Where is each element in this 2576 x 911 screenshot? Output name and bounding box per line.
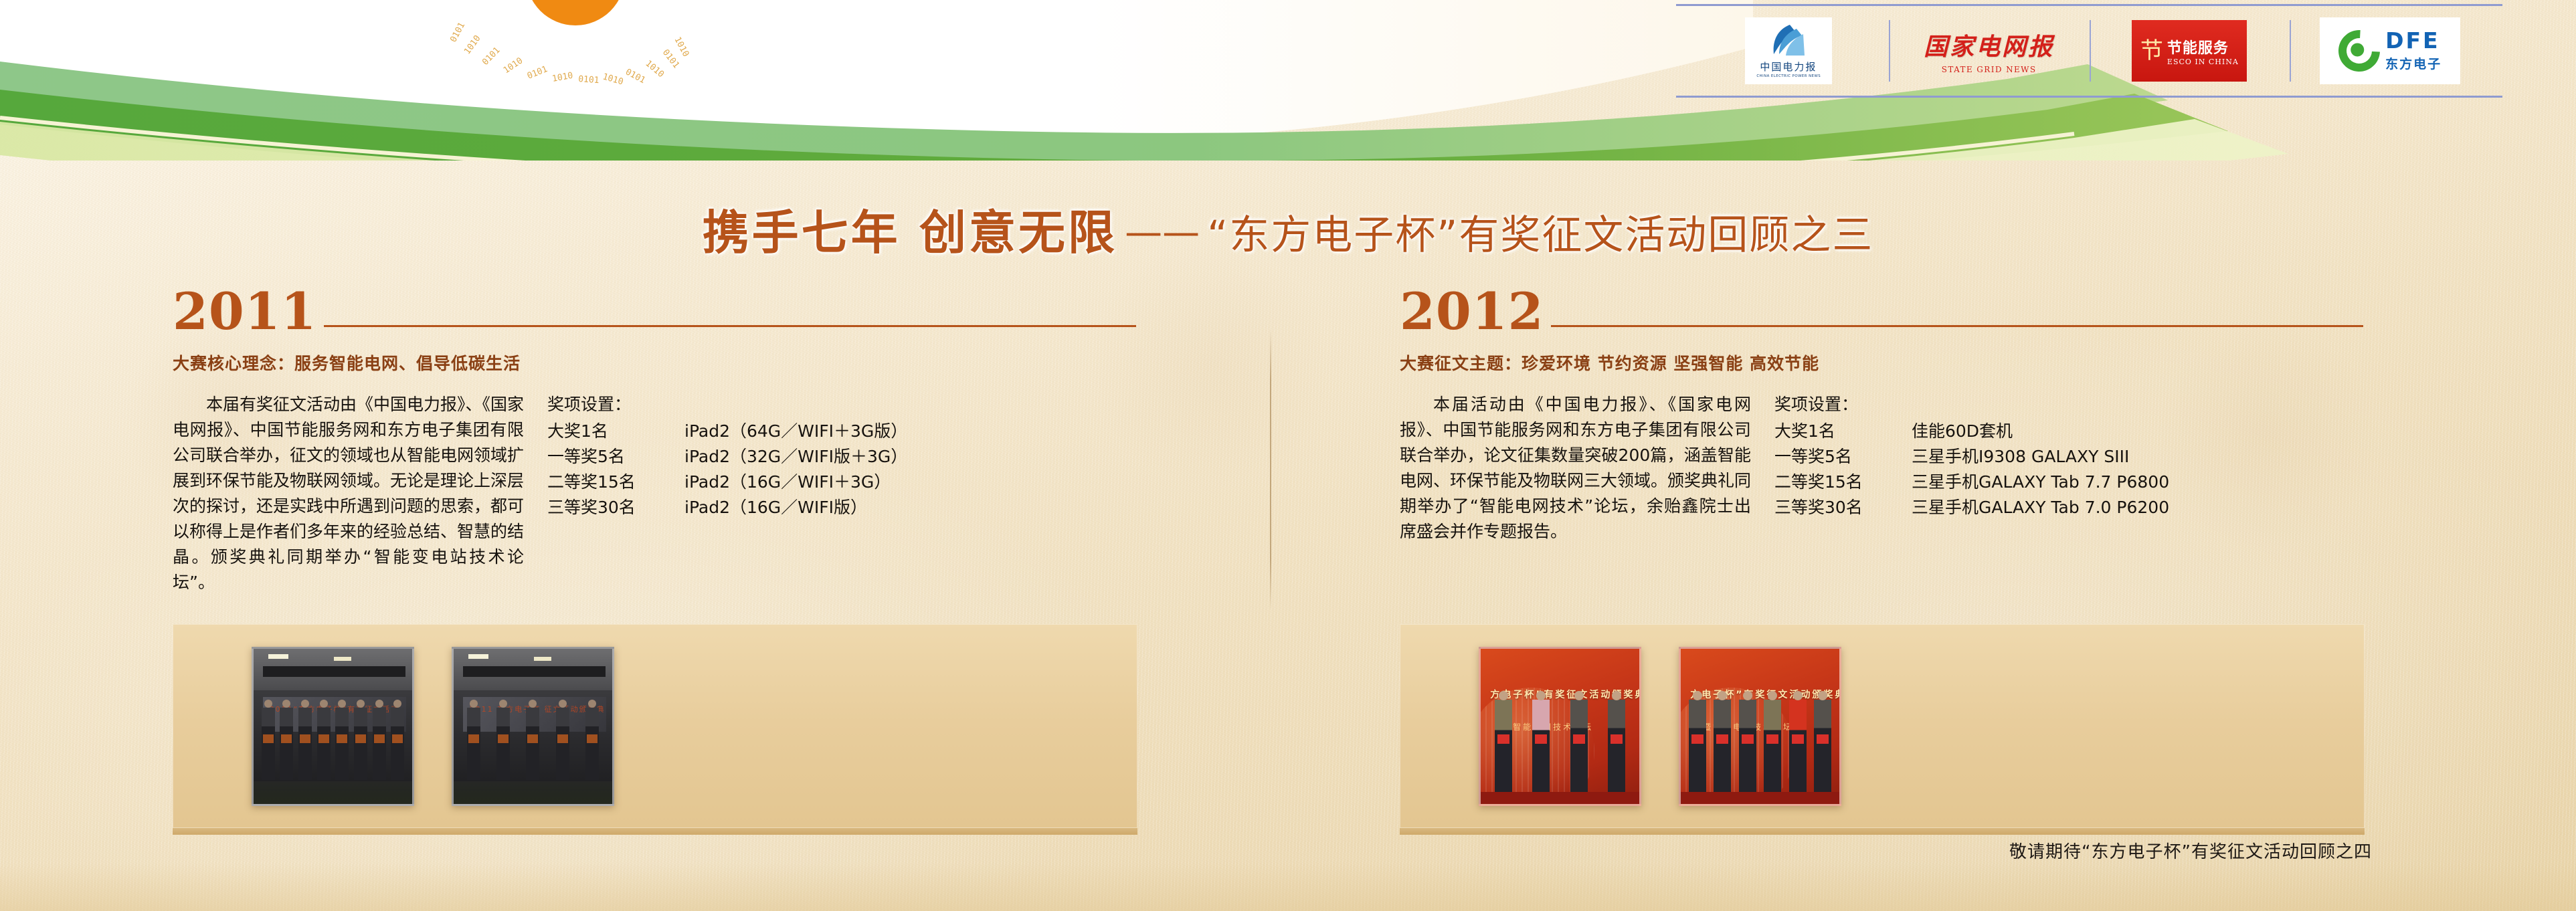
logo-en-label: CHINA ELECTRIC POWER NEWS (1756, 74, 1821, 78)
prize-row: 三等奖30名 iPad2（16G／WIFI版） (547, 495, 907, 520)
prize-rank: 二等奖15名 (1774, 470, 1912, 495)
logo-en-label: DFE (2385, 29, 2440, 52)
prize-rank: 三等奖30名 (547, 495, 684, 520)
photo-award-ceremony-group[interactable]: 2011“东方电子杯”有奖征文活动 (252, 647, 414, 806)
photo-panel-2012: 方电子杯”有奖征文活动颁奖典礼 暨智能电网技术论坛 方电子杯”有奖征文活动颁奖典… (1400, 624, 2365, 828)
logo-cn-label: 东方电子 (2385, 54, 2442, 72)
page-title: 携手七年 创意无限 —— “东方电子杯”有奖征文活动回顾之三 (0, 195, 2576, 263)
poster-canvas: 0101 1010 0101 1010 0101 1010 0101 1010 … (0, 0, 2576, 911)
bottom-gradient-band (0, 863, 2576, 911)
prize-list: 奖项设置： 大奖1名 佳能60D套机 一等奖5名 三星手机I9308 GALAX… (1774, 392, 2169, 544)
prize-award: 三星手机I9308 GALAXY SIII (1912, 444, 2129, 470)
page-title-bold: 携手七年 创意无限 (703, 205, 1117, 260)
logo-cn-label: 国家电网报 (1924, 27, 2054, 62)
year-rule (324, 325, 1136, 327)
logo-china-electric-power-news[interactable]: 中国电力报 CHINA ELECTRIC POWER NEWS (1688, 16, 1889, 86)
logo-state-grid-news[interactable]: 国家电网报 STATE GRID NEWS (1889, 16, 2090, 86)
prize-list: 奖项设置： 大奖1名 iPad2（64G／WIFI＋3G版） 一等奖5名 iPa… (547, 392, 907, 595)
prize-rank: 大奖1名 (547, 419, 684, 444)
column-2012: 2012 大赛征文主题：珍爱环境 节约资源 坚强智能 高效节能 本届活动由《中国… (1400, 288, 2363, 544)
prize-row: 二等奖15名 三星手机GALAXY Tab 7.7 P6800 (1774, 470, 2169, 495)
logo-cn-label: 中国电力报 (1760, 60, 1817, 74)
prize-row: 一等奖5名 iPad2（32G／WIFI版＋3G） (547, 444, 907, 470)
description-paragraph: 本届活动由《中国电力报》、《国家电网报》、中国节能服务网和东方电子集团有限公司联… (1400, 392, 1751, 544)
year-rule (1551, 325, 2363, 327)
body-row: 本届活动由《中国电力报》、《国家电网报》、中国节能服务网和东方电子集团有限公司联… (1400, 392, 2363, 544)
theme-line: 大赛核心理念：服务智能电网、倡导低碳生活 (173, 350, 1136, 375)
logo-dfe-dongfang-electronics[interactable]: DFE 东方电子 (2290, 16, 2490, 86)
theme-line: 大赛征文主题：珍爱环境 节约资源 坚强智能 高效节能 (1400, 350, 2363, 375)
esco-symbol-icon: 节 (2140, 39, 2163, 62)
photo-award-ceremony-stage[interactable]: 2011 东方电子杯 征文活动颁奖典礼 (452, 647, 614, 806)
prize-rank: 三等奖30名 (1774, 495, 1912, 520)
prize-list-heading: 奖项设置： (547, 392, 907, 417)
prize-award: iPad2（64G／WIFI＋3G版） (684, 419, 907, 444)
cepn-wave-icon (1767, 23, 1810, 57)
prize-row: 三等奖30名 三星手机GALAXY Tab 7.0 P6200 (1774, 495, 2169, 520)
prize-award: iPad2（16G／WIFI＋3G） (684, 470, 891, 495)
body-row: 本届有奖征文活动由《中国电力报》、《国家电网报》、中国节能服务网和东方电子集团有… (173, 392, 1136, 595)
year-label: 2011 (173, 288, 317, 336)
photo-award-ceremony-red-stage[interactable]: 方电子杯”有奖征文活动颁奖典礼 暨智能电网技术论坛 (1479, 647, 1641, 806)
svg-text:0101: 0101 (578, 74, 600, 86)
page-title-dash: —— (1121, 211, 1204, 254)
description-paragraph: 本届有奖征文活动由《中国电力报》、《国家电网报》、中国节能服务网和东方电子集团有… (173, 392, 524, 595)
photo-award-winners-red-stage[interactable]: 方电子杯”有奖征文活动颁奖典礼 暨智能电网技术论坛 (1679, 647, 1841, 806)
prize-row: 二等奖15名 iPad2（16G／WIFI＋3G） (547, 470, 907, 495)
logo-en-label: STATE GRID NEWS (1942, 65, 2037, 74)
prize-row: 一等奖5名 三星手机I9308 GALAXY SIII (1774, 444, 2169, 470)
prize-award: iPad2（16G／WIFI版） (684, 495, 867, 520)
prize-rank: 一等奖5名 (547, 444, 684, 470)
year-heading-row: 2012 (1400, 288, 2363, 336)
prize-award: 三星手机GALAXY Tab 7.0 P6200 (1912, 495, 2169, 520)
year-label: 2012 (1400, 288, 1544, 336)
prize-award: iPad2（32G／WIFI版＋3G） (684, 444, 907, 470)
prize-rank: 二等奖15名 (547, 470, 684, 495)
prize-award: 三星手机GALAXY Tab 7.7 P6800 (1912, 470, 2169, 495)
prize-row: 大奖1名 iPad2（64G／WIFI＋3G版） (547, 419, 907, 444)
page-title-subtitle: “东方电子杯”有奖征文活动回顾之三 (1207, 212, 1873, 259)
column-divider (1270, 329, 1271, 610)
prize-award: 佳能60D套机 (1912, 419, 2013, 444)
logo-cn-label: 节能服务 (2167, 36, 2229, 58)
prize-list-heading: 奖项设置： (1774, 392, 2169, 417)
year-heading-row: 2011 (173, 288, 1136, 336)
logo-en-label: ESCO IN CHINA (2167, 58, 2239, 66)
photo-panel-2011: 2011“东方电子杯”有奖征文活动 2011 东方电子杯 征文活动颁奖典礼 (173, 624, 1137, 828)
prize-row: 大奖1名 佳能60D套机 (1774, 419, 2169, 444)
footer-note: 敬请期待“东方电子杯”有奖征文活动回顾之四 (2009, 838, 2372, 863)
dfe-ring-icon (2330, 21, 2389, 80)
prize-rank: 一等奖5名 (1774, 444, 1912, 470)
sponsor-logo-strip: 中国电力报 CHINA ELECTRIC POWER NEWS 国家电网报 ST… (1676, 4, 2502, 98)
prize-rank: 大奖1名 (1774, 419, 1912, 444)
logo-esco-in-china[interactable]: 节 节能服务 ESCO IN CHINA (2090, 16, 2290, 86)
column-2011: 2011 大赛核心理念：服务智能电网、倡导低碳生活 本届有奖征文活动由《中国电力… (173, 288, 1136, 595)
